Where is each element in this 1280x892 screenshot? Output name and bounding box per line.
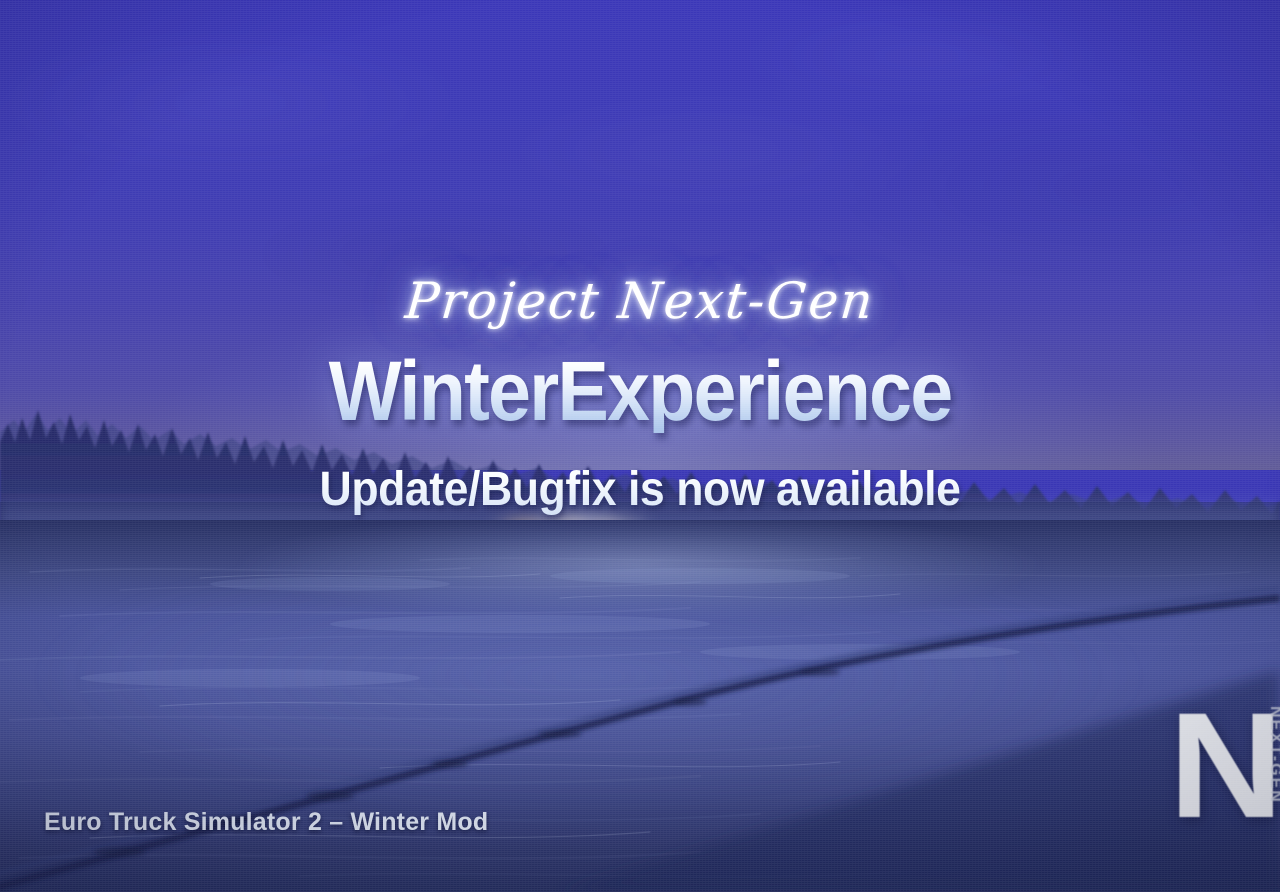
announcement-image: Project Next-Gen WinterExperience Update… — [0, 0, 1280, 892]
caption-label: Euro Truck Simulator 2 – Winter Mod — [44, 808, 488, 837]
brand-vertical-text: NEXT-GEN — [1266, 706, 1280, 804]
brand-letter-n: N — [1169, 690, 1280, 840]
brand-watermark: N NEXT-GEN — [1158, 690, 1280, 860]
